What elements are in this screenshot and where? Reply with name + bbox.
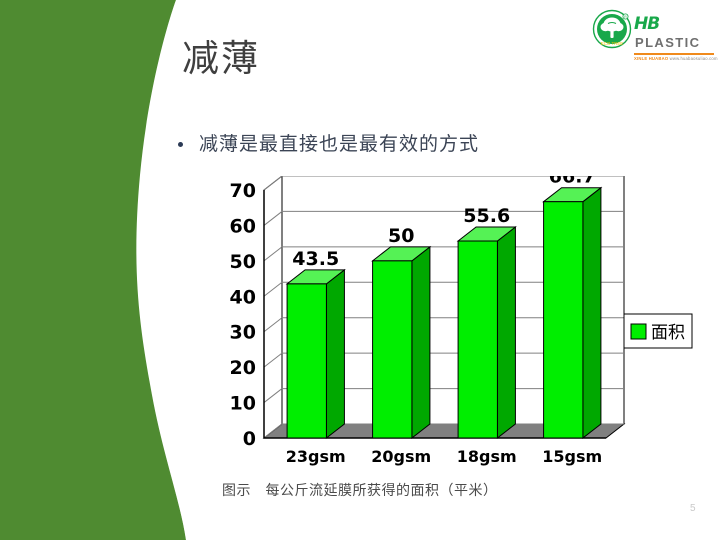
- x-axis-category-label: 20gsm: [371, 447, 431, 466]
- page-title: 减薄: [182, 36, 260, 82]
- logo-accent-bar: [634, 53, 714, 55]
- logo-tagline: XINLE HUABAO www.huabaosuliao.com: [634, 56, 718, 62]
- legend-label: 面积: [651, 323, 685, 343]
- y-axis-tick-label: 60: [230, 215, 256, 237]
- svg-text:ECO TREE: ECO TREE: [601, 41, 623, 46]
- sidebar-decoration: [0, 0, 200, 540]
- logo-brand-sub: PLASTIC: [635, 34, 700, 51]
- bar-18gsm: [458, 227, 515, 438]
- y-axis-tick-label: 10: [230, 393, 256, 415]
- y-axis-tick-label: 30: [230, 322, 256, 344]
- logo-tagline-name: XINLE HUABAO: [634, 56, 668, 61]
- x-axis-category-label: 15gsm: [542, 447, 602, 466]
- bar-20gsm: [373, 247, 430, 438]
- x-axis-category-label: 23gsm: [286, 447, 346, 466]
- bar-chart: 01020304050607043.523gsm5020gsm55.618gsm…: [206, 176, 696, 476]
- bullet-text: 减薄是最直接也是最有效的方式: [199, 131, 479, 157]
- y-axis-tick-label: 0: [243, 428, 256, 450]
- bar-value-label: 66.7: [549, 176, 596, 188]
- y-axis-tick-label: 20: [230, 357, 256, 379]
- chart-caption: 图示 每公斤流延膜所获得的面积（平米）: [222, 481, 498, 501]
- bar-value-label: 50: [388, 225, 414, 247]
- y-axis-tick-label: 40: [230, 286, 256, 308]
- chart-canvas: 01020304050607043.523gsm5020gsm55.618gsm…: [206, 176, 696, 476]
- bar-value-label: 43.5: [292, 248, 339, 270]
- x-axis-category-label: 18gsm: [457, 447, 517, 466]
- tree-in-circle-emblem: ECO TREE R: [592, 9, 632, 49]
- y-axis-tick-label: 50: [230, 251, 256, 273]
- logo-brand-main: HB: [634, 16, 659, 33]
- company-logo: ECO TREE R HBPLASTIC XINLE HUABAO www.hu…: [592, 9, 712, 51]
- page-number: 5: [690, 503, 696, 514]
- slide: ECO TREE R HBPLASTIC XINLE HUABAO www.hu…: [0, 0, 720, 540]
- bullet-item: 减薄是最直接也是最有效的方式: [178, 131, 479, 157]
- bar-23gsm: [287, 270, 344, 438]
- chart-legend: 面积: [624, 314, 692, 348]
- logo-tagline-url: www.huabaosuliao.com: [670, 56, 718, 61]
- bar-value-label: 55.6: [463, 205, 510, 227]
- bar-15gsm: [544, 188, 601, 438]
- bullet-dot-icon: [178, 142, 183, 147]
- y-axis-tick-label: 70: [230, 180, 256, 202]
